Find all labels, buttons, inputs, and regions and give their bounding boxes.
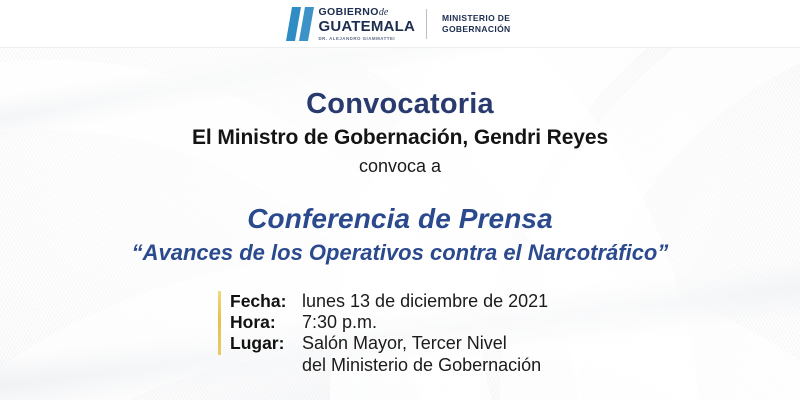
logo-gobierno-line: GOBIERNOde [318, 7, 415, 18]
detail-label-fecha: Fecha: [230, 291, 302, 312]
logo-wordmark: GOBIERNOde GUATEMALA DR. ALEJANDRO GIAMM… [318, 7, 415, 41]
detail-value-hora: 7:30 p.m. [302, 312, 377, 333]
gold-accent-bar [218, 291, 221, 355]
poster-content: Convocatoria El Ministro de Gobernación,… [0, 48, 800, 400]
event-details-block: Fecha: lunes 13 de diciembre de 2021 Hor… [218, 291, 548, 376]
convoca-line: convoca a [0, 156, 800, 177]
event-details-rows: Fecha: lunes 13 de diciembre de 2021 Hor… [230, 291, 548, 376]
logo-ministry-line-2: GOBERNACIÓN [442, 24, 511, 35]
government-logo: GOBIERNOde GUATEMALA DR. ALEJANDRO GIAMM… [289, 4, 510, 44]
logo-bar-right [299, 7, 314, 41]
press-conference-poster: GOBIERNOde GUATEMALA DR. ALEJANDRO GIAMM… [0, 0, 800, 400]
logo-ministry-line-1: MINISTERIO DE [442, 13, 511, 24]
event-type-title: Conferencia de Prensa [0, 203, 800, 235]
detail-label-hora: Hora: [230, 312, 302, 333]
logo-president-text: DR. ALEJANDRO GIAMMATTEI [318, 37, 415, 41]
logo-flag-bars-icon [289, 7, 311, 41]
logo-guatemala-text: GUATEMALA [318, 19, 415, 34]
detail-value-lugar-line-2: del Ministerio de Gobernación [302, 355, 541, 376]
header-divider [0, 47, 800, 48]
detail-row-fecha: Fecha: lunes 13 de diciembre de 2021 [230, 291, 548, 312]
event-topic-subtitle: “Avances de los Operativos contra el Nar… [0, 240, 800, 266]
detail-value-lugar-line-1: Salón Mayor, Tercer Nivel [302, 333, 507, 353]
logo-ministry-block: MINISTERIO DE GOBERNACIÓN [442, 13, 511, 36]
detail-row-lugar: Lugar: Salón Mayor, Tercer Nivel del Min… [230, 333, 548, 376]
detail-label-lugar: Lugar: [230, 333, 302, 354]
minister-line: El Ministro de Gobernación, Gendri Reyes [0, 126, 800, 150]
page-title: Convocatoria [0, 88, 800, 121]
detail-row-hora: Hora: 7:30 p.m. [230, 312, 548, 333]
logo-de-text: de [379, 7, 388, 18]
header-bar: GOBIERNOde GUATEMALA DR. ALEJANDRO GIAMM… [0, 0, 800, 48]
detail-value-lugar: Salón Mayor, Tercer Nivel del Ministerio… [302, 333, 541, 376]
detail-value-fecha: lunes 13 de diciembre de 2021 [302, 291, 548, 312]
logo-divider [426, 9, 427, 39]
logo-gobierno-text: GOBIERNO [318, 6, 378, 18]
